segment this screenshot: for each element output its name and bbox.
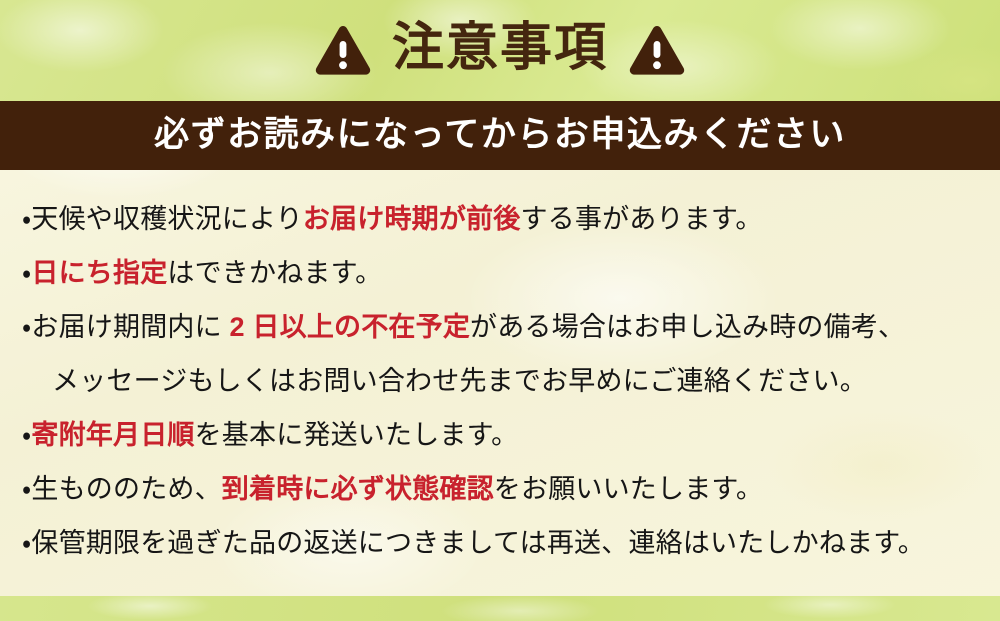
bullet-marker: ・: [22, 474, 31, 504]
bullet-marker: ・: [22, 258, 31, 288]
notice-emphasis-text: 2 日以上の不在予定: [230, 312, 471, 342]
notice-text: を基本に発送いたします。: [195, 420, 519, 450]
notice-item: ・お届け期間内に 2 日以上の不在予定がある場合はお申し込み時の備考、: [0, 300, 1000, 354]
notice-emphasis-text: お届け時期が前後: [303, 204, 521, 234]
notice-text: はできかねます。: [167, 258, 382, 288]
bullet-marker: ・: [22, 312, 31, 342]
notice-text: お届け期間内に: [31, 312, 229, 342]
warning-triangle-icon-left: [314, 24, 372, 78]
notice-text: 天候や収穫状況により: [31, 204, 302, 234]
notice-item: ・保管期限を過ぎた品の返送につきましては再送、連絡はいたしかねます。: [0, 516, 1000, 570]
notice-emphasis-text: 寄附年月日順: [31, 420, 194, 450]
bullet-marker: ・: [22, 204, 31, 234]
notice-header: 注意事項: [0, 0, 1000, 101]
notice-text: 保管期限を過ぎた品の返送につきましては再送、連絡はいたしかねます。: [31, 528, 925, 558]
warning-triangle-icon-right: [628, 24, 686, 78]
notice-page: 注意事項 必ずお読みになってからお申込みください ・天候や収穫状況によりお届け時…: [0, 0, 1000, 621]
notice-item: ・生もののため、到着時に必ず状態確認をお願いいたします。: [0, 462, 1000, 516]
notice-item: メッセージもしくはお問い合わせ先までお早めにご連絡ください。: [0, 354, 1000, 408]
bullet-marker: ・: [22, 528, 31, 558]
notice-text: 生もののため、: [31, 474, 221, 504]
page-title: 注意事項: [392, 23, 608, 78]
notice-emphasis-text: 日にち指定: [31, 258, 167, 288]
notice-text: がある場合はお申し込み時の備考、: [470, 312, 905, 342]
notice-item: ・日にち指定はできかねます。: [0, 246, 1000, 300]
notice-item: ・天候や収穫状況によりお届け時期が前後する事があります。: [0, 192, 1000, 246]
notice-banner: 必ずお読みになってからお申込みください: [0, 101, 1000, 170]
notice-item: ・寄附年月日順を基本に発送いたします。: [0, 408, 1000, 462]
notice-text: をお願いいたします。: [494, 474, 763, 504]
bullet-marker: ・: [22, 420, 31, 450]
banner-text: 必ずお読みになってからお申込みください: [154, 117, 846, 154]
notice-emphasis-text: 到着時に必ず状態確認: [222, 474, 494, 504]
notice-text: する事があります。: [520, 204, 762, 234]
footer-strip: [0, 596, 1000, 621]
notice-text: メッセージもしくはお問い合わせ先までお早めにご連絡ください。: [52, 366, 867, 396]
notice-list: ・天候や収穫状況によりお届け時期が前後する事があります。・日にち指定はできかねま…: [0, 170, 1000, 596]
